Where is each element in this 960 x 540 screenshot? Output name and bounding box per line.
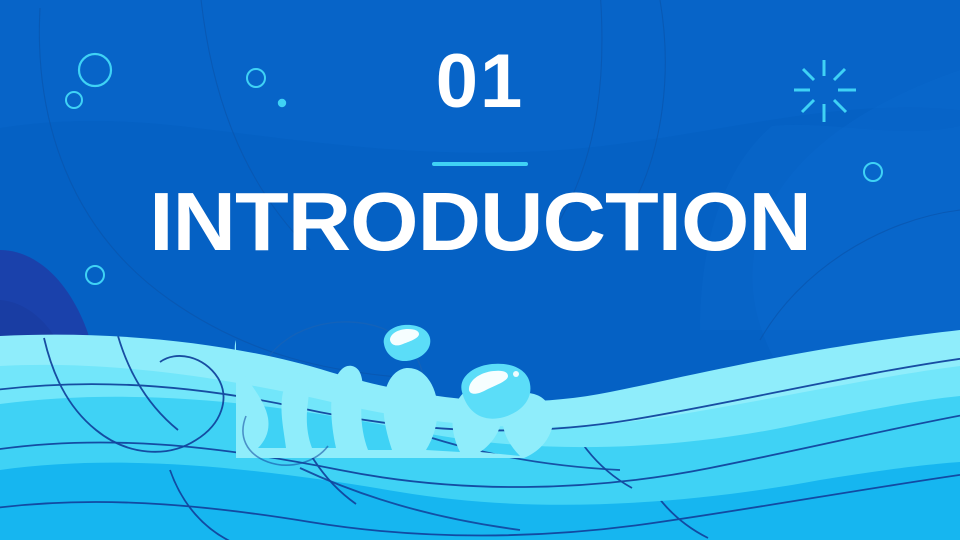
- droplet-large-sparkle: [513, 371, 519, 377]
- presentation-slide: 01 INTRODUCTION: [0, 0, 960, 540]
- water-droplet-small: [384, 325, 431, 361]
- water-illustration: [0, 0, 960, 540]
